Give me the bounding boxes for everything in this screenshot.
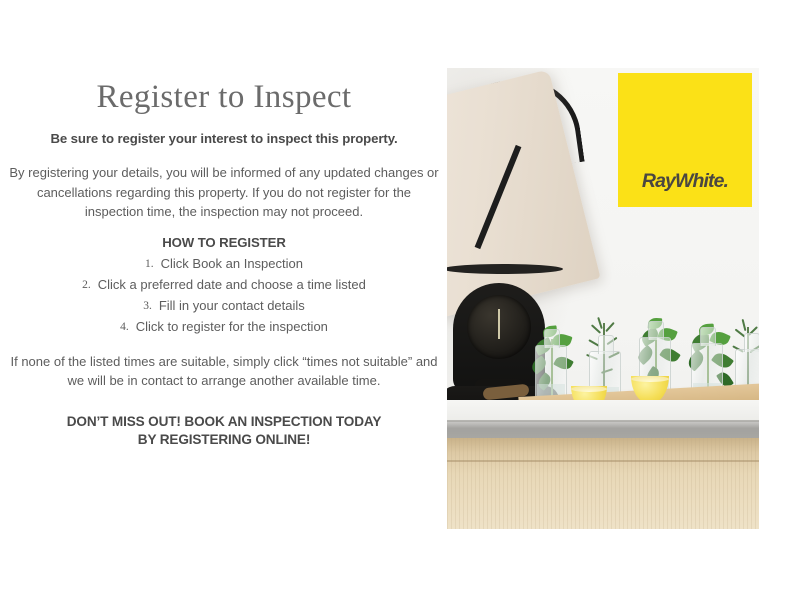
step-number: 4. (120, 321, 129, 333)
ray-white-logo: RayWhite. (618, 73, 752, 207)
list-item: 4.Click to register for the inspection (8, 317, 440, 338)
cabinet-seam (447, 460, 759, 462)
cta-line-1: DON’T MISS OUT! BOOK AN INSPECTION TODAY (67, 414, 381, 429)
step-text: Click a preferred date and choose a time… (98, 277, 366, 292)
subtitle-text: Be sure to register your interest to ins… (8, 130, 440, 147)
step-number: 1. (145, 258, 154, 270)
steps-list: 1.Click Book an Inspection 2.Click a pre… (8, 254, 440, 338)
step-text: Fill in your contact details (159, 298, 305, 313)
list-item: 1.Click Book an Inspection (8, 254, 440, 275)
alternative-times-paragraph: If none of the listed times are suitable… (8, 352, 440, 391)
step-text: Click to register for the inspection (136, 319, 328, 334)
property-photo: RayWhite. (447, 68, 759, 529)
cta-line-2: BY REGISTERING ONLINE! (138, 432, 310, 447)
cabinet-front (447, 438, 759, 529)
step-number: 2. (82, 279, 91, 291)
scale-dial-face (467, 295, 531, 359)
scale-needle (498, 309, 500, 339)
counter-top (447, 400, 759, 422)
call-to-action: DON’T MISS OUT! BOOK AN INSPECTION TODAY… (8, 413, 440, 450)
scale-plate (447, 264, 563, 274)
page-title: Register to Inspect (8, 78, 440, 116)
counter-reflection (447, 422, 759, 438)
how-to-register-heading: HOW TO REGISTER (8, 234, 440, 252)
vintage-scale (453, 283, 545, 393)
intro-paragraph: By registering your details, you will be… (8, 163, 440, 222)
text-column: Register to Inspect Be sure to register … (8, 78, 440, 450)
step-number: 3. (143, 300, 152, 312)
ray-white-logo-text: RayWhite. (642, 170, 728, 193)
list-item: 3.Fill in your contact details (8, 296, 440, 317)
step-text: Click Book an Inspection (161, 256, 303, 271)
slide-canvas: Register to Inspect Be sure to register … (0, 0, 800, 600)
list-item: 2.Click a preferred date and choose a ti… (8, 275, 440, 296)
